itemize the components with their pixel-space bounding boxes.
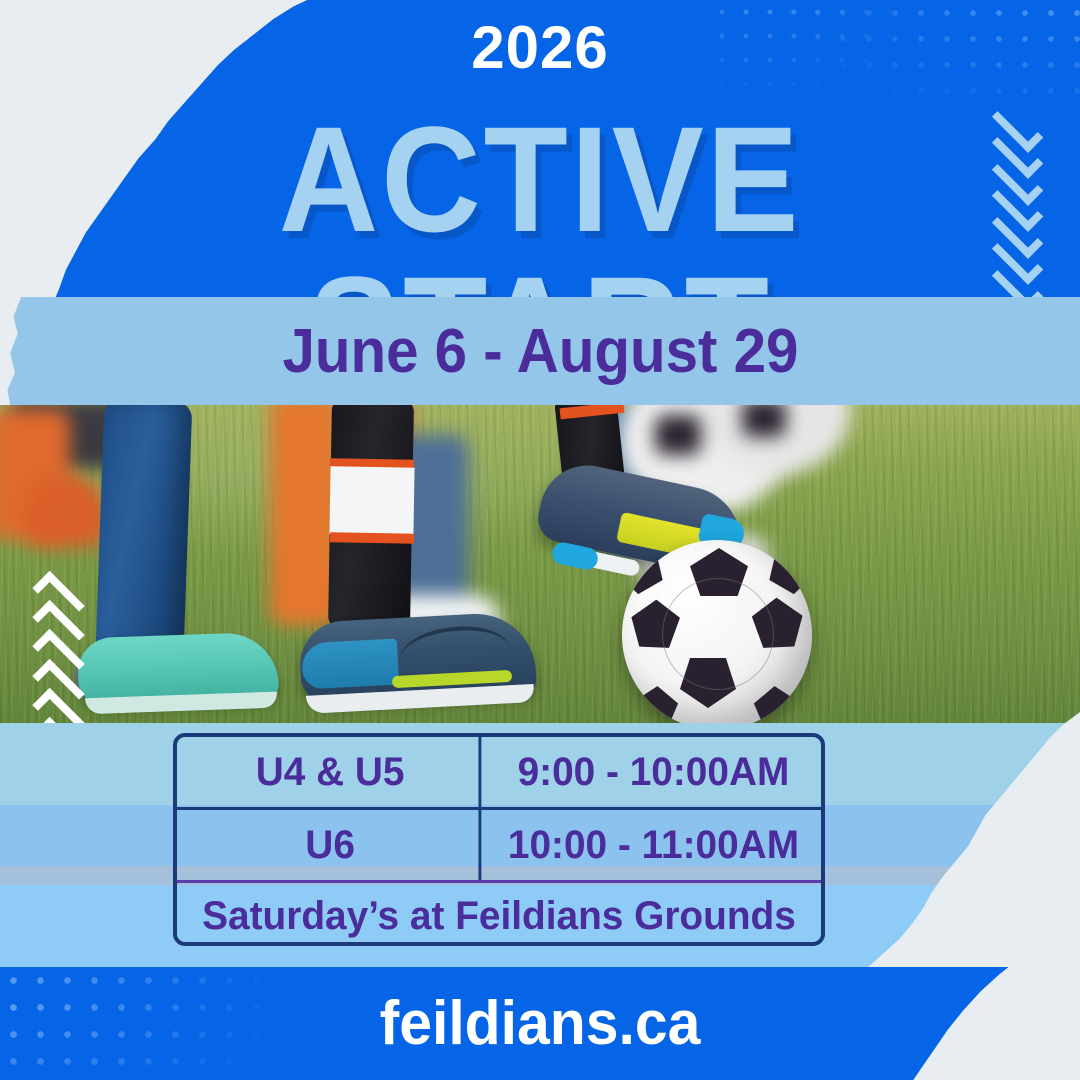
background-soccer-ball xyxy=(655,415,701,455)
table-row: U4 & U5 9:00 - 10:00AM xyxy=(177,737,821,810)
sock-stripe xyxy=(330,532,414,543)
poster: 2026 ACTIVE START June 6 - August 29 xyxy=(0,0,1080,1080)
ball-seam xyxy=(662,578,774,690)
background-soccer-ball xyxy=(742,405,786,437)
time-slot-cell: 10:00 - 11:00AM xyxy=(491,810,816,880)
date-banner: June 6 - August 29 xyxy=(0,297,1080,405)
background-figure xyxy=(24,475,108,547)
table-row: U6 10:00 - 11:00AM xyxy=(177,810,821,883)
player-shoe-navy xyxy=(301,639,399,690)
website-link[interactable]: feildians.ca xyxy=(27,967,1053,1080)
soccer-ball xyxy=(622,540,812,723)
header-banner: 2026 ACTIVE START xyxy=(0,0,1080,297)
footer-banner: feildians.ca xyxy=(0,967,1080,1080)
date-range-label: June 6 - August 29 xyxy=(282,316,798,387)
year-label: 2026 xyxy=(0,18,1080,78)
sock-stripe xyxy=(329,466,414,535)
player-leg-blue-sock xyxy=(96,405,193,652)
schedule-table: U4 & U5 9:00 - 10:00AM U6 10:00 - 11:00A… xyxy=(173,733,825,946)
player-shoe-mint xyxy=(77,632,279,707)
time-slot-cell: 9:00 - 10:00AM xyxy=(491,737,816,807)
chevron-up-icon-group xyxy=(22,585,94,723)
soccer-photo xyxy=(0,405,1080,723)
age-group-cell: U4 & U5 xyxy=(182,737,482,807)
page-title: ACTIVE START xyxy=(43,104,1037,297)
age-group-cell: U6 xyxy=(182,810,482,880)
torn-edge-date-left xyxy=(0,297,34,405)
chevron-down-icon-group xyxy=(980,116,1054,297)
location-label: Saturday’s at Feildians Grounds xyxy=(187,883,812,946)
